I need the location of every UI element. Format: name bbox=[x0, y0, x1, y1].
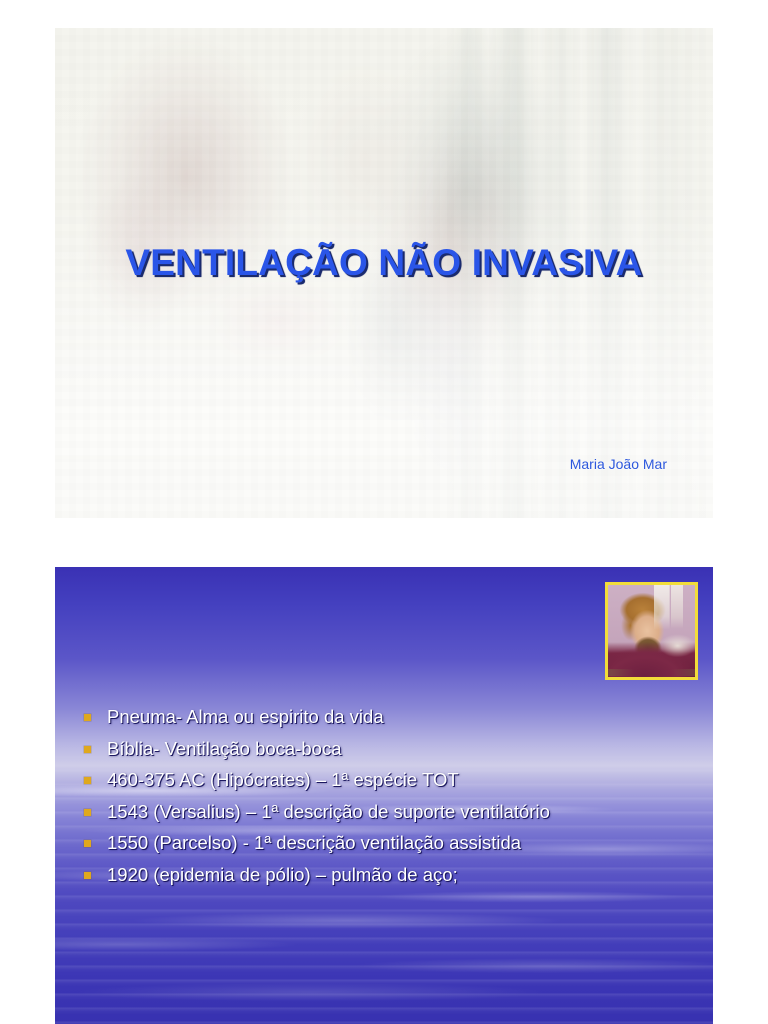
slide-1-title: VENTILAÇÃO NÃO INVASIVA Maria João Mar bbox=[55, 28, 713, 518]
list-item-label: 1543 (Versalius) – 1ª descrição de supor… bbox=[107, 800, 550, 824]
square-bullet-icon bbox=[84, 872, 91, 879]
list-item: Bíblia- Ventilação boca-boca bbox=[84, 737, 664, 769]
square-bullet-icon bbox=[84, 809, 91, 816]
list-item: 1550 (Parcelso) - 1ª descrição ventilaçã… bbox=[84, 831, 664, 863]
vesalius-portrait-image bbox=[605, 582, 698, 680]
square-bullet-icon bbox=[84, 777, 91, 784]
history-bullet-list: Pneuma- Alma ou espirito da vida Bíblia-… bbox=[84, 705, 664, 894]
portrait-caption-strip bbox=[608, 669, 695, 676]
list-item: Pneuma- Alma ou espirito da vida bbox=[84, 705, 664, 737]
author-name: Maria João Mar bbox=[570, 456, 667, 472]
slides-page: VENTILAÇÃO NÃO INVASIVA Maria João Mar P… bbox=[0, 0, 768, 1024]
square-bullet-icon bbox=[84, 840, 91, 847]
list-item: 1543 (Versalius) – 1ª descrição de supor… bbox=[84, 800, 664, 832]
list-item-label: Bíblia- Ventilação boca-boca bbox=[107, 737, 341, 761]
portrait-artwork bbox=[608, 585, 695, 677]
presentation-title: VENTILAÇÃO NÃO INVASIVA bbox=[55, 242, 713, 284]
list-item-label: 1920 (epidemia de pólio) – pulmão de aço… bbox=[107, 863, 458, 887]
square-bullet-icon bbox=[84, 746, 91, 753]
list-item: 460-375 AC (Hipócrates) – 1ª espécie TOT bbox=[84, 768, 664, 800]
list-item-label: 460-375 AC (Hipócrates) – 1ª espécie TOT bbox=[107, 768, 459, 792]
square-bullet-icon bbox=[84, 714, 91, 721]
list-item-label: 1550 (Parcelso) - 1ª descrição ventilaçã… bbox=[107, 831, 521, 855]
list-item-label: Pneuma- Alma ou espirito da vida bbox=[107, 705, 384, 729]
list-item: 1920 (epidemia de pólio) – pulmão de aço… bbox=[84, 863, 664, 895]
